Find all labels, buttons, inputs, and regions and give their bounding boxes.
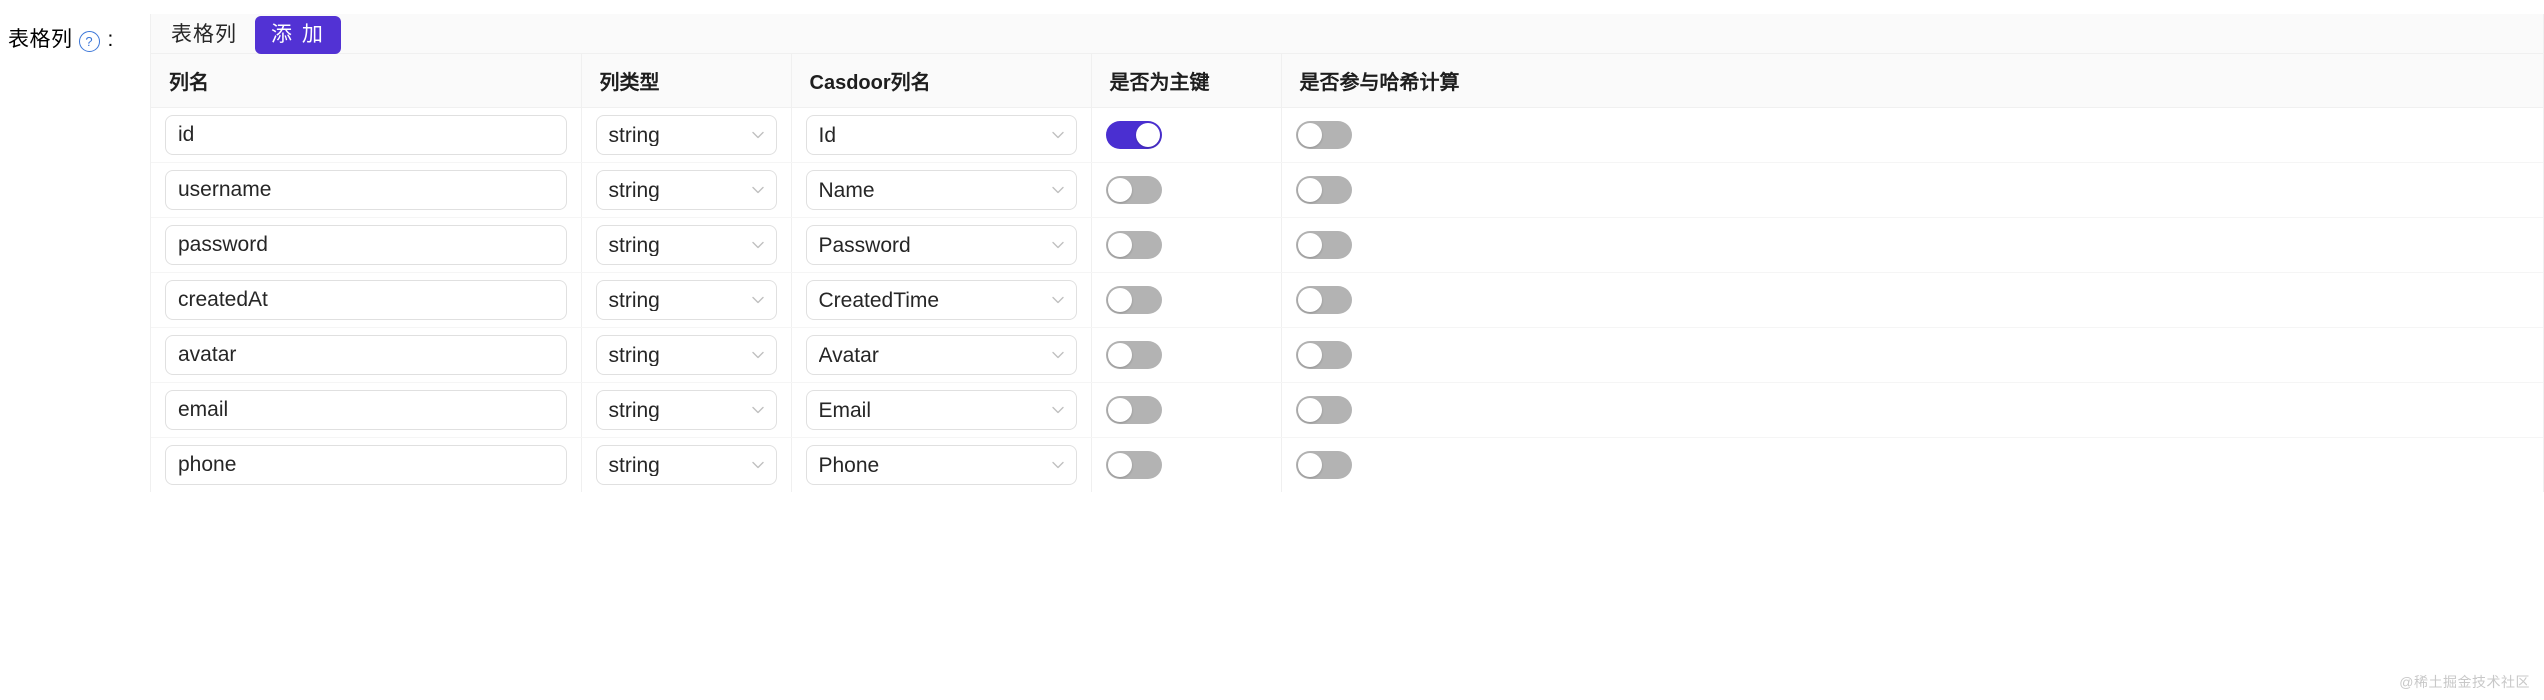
casdoor-column-value: Avatar bbox=[819, 345, 879, 366]
tab-table-columns[interactable]: 表格列 bbox=[165, 20, 255, 50]
is-primary-key-toggle[interactable] bbox=[1106, 176, 1162, 204]
casdoor-column-select[interactable]: CreatedTime bbox=[806, 280, 1077, 320]
casdoor-column-select[interactable]: Avatar bbox=[806, 335, 1077, 375]
cell-column-name bbox=[151, 328, 581, 383]
toggle-knob bbox=[1298, 288, 1322, 312]
is-primary-key-toggle[interactable] bbox=[1106, 341, 1162, 369]
table-row: string Password bbox=[151, 218, 2543, 273]
toggle-knob bbox=[1108, 453, 1132, 477]
casdoor-column-select[interactable]: Password bbox=[806, 225, 1077, 265]
is-hashed-toggle[interactable] bbox=[1296, 451, 1352, 479]
chevron-down-icon bbox=[1051, 238, 1065, 252]
is-hashed-toggle[interactable] bbox=[1296, 396, 1352, 424]
field-label-colon: : bbox=[108, 26, 114, 54]
toggle-knob bbox=[1298, 123, 1322, 147]
casdoor-column-value: Id bbox=[819, 125, 837, 146]
is-primary-key-toggle[interactable] bbox=[1106, 121, 1162, 149]
casdoor-column-select[interactable]: Phone bbox=[806, 445, 1077, 485]
table-columns-panel: 表格列 添 加 列名 列类型 Casdoor列名 是否为主键 是否参与哈希计算 bbox=[150, 14, 2544, 492]
cell-column-type: string bbox=[581, 273, 791, 328]
cell-column-name bbox=[151, 108, 581, 163]
toggle-knob bbox=[1298, 178, 1322, 202]
tab-bar: 表格列 添 加 bbox=[151, 14, 2543, 54]
cell-column-name bbox=[151, 163, 581, 218]
table-columns-form-row: 表格列 ? : 表格列 添 加 列名 列类型 Casdoor列名 是否为主键 bbox=[0, 0, 2544, 492]
cell-column-type: string bbox=[581, 108, 791, 163]
cell-casdoor-column: Avatar bbox=[791, 328, 1091, 383]
cell-is-primary-key bbox=[1091, 438, 1281, 493]
column-name-input[interactable] bbox=[165, 445, 567, 485]
column-type-value: string bbox=[609, 400, 660, 421]
add-column-button[interactable]: 添 加 bbox=[255, 16, 341, 54]
header-column-name: 列名 bbox=[151, 54, 581, 108]
column-type-select[interactable]: string bbox=[596, 390, 777, 430]
column-type-select[interactable]: string bbox=[596, 115, 777, 155]
column-type-value: string bbox=[609, 290, 660, 311]
cell-is-primary-key bbox=[1091, 163, 1281, 218]
cell-casdoor-column: Name bbox=[791, 163, 1091, 218]
table-row: string Phone bbox=[151, 438, 2543, 493]
cell-column-name bbox=[151, 438, 581, 493]
toggle-knob bbox=[1136, 123, 1160, 147]
table-columns-table: 列名 列类型 Casdoor列名 是否为主键 是否参与哈希计算 string bbox=[151, 54, 2543, 492]
is-primary-key-toggle[interactable] bbox=[1106, 451, 1162, 479]
column-name-input[interactable] bbox=[165, 335, 567, 375]
column-type-select[interactable]: string bbox=[596, 225, 777, 265]
chevron-down-icon bbox=[751, 128, 765, 142]
cell-is-hashed bbox=[1281, 438, 2543, 493]
toggle-knob bbox=[1298, 343, 1322, 367]
chevron-down-icon bbox=[751, 348, 765, 362]
header-column-type: 列类型 bbox=[581, 54, 791, 108]
cell-column-name bbox=[151, 383, 581, 438]
cell-is-hashed bbox=[1281, 108, 2543, 163]
cell-column-type: string bbox=[581, 438, 791, 493]
column-type-select[interactable]: string bbox=[596, 335, 777, 375]
cell-is-hashed bbox=[1281, 328, 2543, 383]
toggle-knob bbox=[1108, 288, 1132, 312]
table-body: string Id bbox=[151, 108, 2543, 493]
table-header: 列名 列类型 Casdoor列名 是否为主键 是否参与哈希计算 bbox=[151, 54, 2543, 108]
table-row: string Email bbox=[151, 383, 2543, 438]
casdoor-column-select[interactable]: Id bbox=[806, 115, 1077, 155]
cell-column-type: string bbox=[581, 163, 791, 218]
table-header-row: 列名 列类型 Casdoor列名 是否为主键 是否参与哈希计算 bbox=[151, 54, 2543, 108]
chevron-down-icon bbox=[751, 293, 765, 307]
cell-casdoor-column: Phone bbox=[791, 438, 1091, 493]
casdoor-column-value: Password bbox=[819, 235, 911, 256]
toggle-knob bbox=[1108, 343, 1132, 367]
cell-column-type: string bbox=[581, 218, 791, 273]
is-primary-key-toggle[interactable] bbox=[1106, 286, 1162, 314]
cell-casdoor-column: Id bbox=[791, 108, 1091, 163]
toggle-knob bbox=[1298, 233, 1322, 257]
column-type-value: string bbox=[609, 180, 660, 201]
column-name-input[interactable] bbox=[165, 390, 567, 430]
cell-is-primary-key bbox=[1091, 218, 1281, 273]
chevron-down-icon bbox=[1051, 458, 1065, 472]
field-label-text: 表格列 bbox=[8, 26, 73, 54]
chevron-down-icon bbox=[1051, 293, 1065, 307]
cell-is-primary-key bbox=[1091, 273, 1281, 328]
cell-is-primary-key bbox=[1091, 328, 1281, 383]
column-type-select[interactable]: string bbox=[596, 280, 777, 320]
casdoor-column-value: Name bbox=[819, 180, 875, 201]
is-hashed-toggle[interactable] bbox=[1296, 286, 1352, 314]
is-hashed-toggle[interactable] bbox=[1296, 121, 1352, 149]
cell-column-type: string bbox=[581, 328, 791, 383]
cell-column-type: string bbox=[581, 383, 791, 438]
column-name-input[interactable] bbox=[165, 115, 567, 155]
header-is-hashed: 是否参与哈希计算 bbox=[1281, 54, 2543, 108]
column-name-input[interactable] bbox=[165, 280, 567, 320]
cell-column-name bbox=[151, 218, 581, 273]
cell-is-hashed bbox=[1281, 218, 2543, 273]
chevron-down-icon bbox=[1051, 183, 1065, 197]
cell-is-primary-key bbox=[1091, 108, 1281, 163]
watermark: @稀土掘金技术社区 bbox=[2399, 672, 2530, 692]
is-hashed-toggle[interactable] bbox=[1296, 231, 1352, 259]
chevron-down-icon bbox=[751, 238, 765, 252]
cell-casdoor-column: Password bbox=[791, 218, 1091, 273]
column-type-select[interactable]: string bbox=[596, 170, 777, 210]
is-hashed-toggle[interactable] bbox=[1296, 341, 1352, 369]
toggle-knob bbox=[1108, 233, 1132, 257]
casdoor-column-select[interactable]: Name bbox=[806, 170, 1077, 210]
cell-is-hashed bbox=[1281, 163, 2543, 218]
toggle-knob bbox=[1298, 453, 1322, 477]
column-type-value: string bbox=[609, 125, 660, 146]
cell-is-hashed bbox=[1281, 383, 2543, 438]
cell-is-hashed bbox=[1281, 273, 2543, 328]
column-name-input[interactable] bbox=[165, 170, 567, 210]
casdoor-column-select[interactable]: Email bbox=[806, 390, 1077, 430]
chevron-down-icon bbox=[1051, 348, 1065, 362]
cell-casdoor-column: Email bbox=[791, 383, 1091, 438]
is-primary-key-toggle[interactable] bbox=[1106, 396, 1162, 424]
toggle-knob bbox=[1108, 398, 1132, 422]
column-type-value: string bbox=[609, 345, 660, 366]
table-row: string Avatar bbox=[151, 328, 2543, 383]
header-casdoor-column: Casdoor列名 bbox=[791, 54, 1091, 108]
cell-is-primary-key bbox=[1091, 383, 1281, 438]
toggle-knob bbox=[1108, 178, 1132, 202]
field-label: 表格列 ? : bbox=[0, 0, 150, 54]
cell-column-name bbox=[151, 273, 581, 328]
casdoor-column-value: CreatedTime bbox=[819, 290, 940, 311]
toggle-knob bbox=[1298, 398, 1322, 422]
table-row: string CreatedTime bbox=[151, 273, 2543, 328]
table-row: string Id bbox=[151, 108, 2543, 163]
is-hashed-toggle[interactable] bbox=[1296, 176, 1352, 204]
is-primary-key-toggle[interactable] bbox=[1106, 231, 1162, 259]
question-circle-icon[interactable]: ? bbox=[79, 31, 100, 52]
column-name-input[interactable] bbox=[165, 225, 567, 265]
header-is-primary-key: 是否为主键 bbox=[1091, 54, 1281, 108]
table-row: string Name bbox=[151, 163, 2543, 218]
column-type-select[interactable]: string bbox=[596, 445, 777, 485]
chevron-down-icon bbox=[751, 183, 765, 197]
column-type-value: string bbox=[609, 235, 660, 256]
column-type-value: string bbox=[609, 455, 660, 476]
chevron-down-icon bbox=[1051, 403, 1065, 417]
casdoor-column-value: Email bbox=[819, 400, 872, 421]
cell-casdoor-column: CreatedTime bbox=[791, 273, 1091, 328]
chevron-down-icon bbox=[751, 403, 765, 417]
chevron-down-icon bbox=[1051, 128, 1065, 142]
chevron-down-icon bbox=[751, 458, 765, 472]
casdoor-column-value: Phone bbox=[819, 455, 880, 476]
